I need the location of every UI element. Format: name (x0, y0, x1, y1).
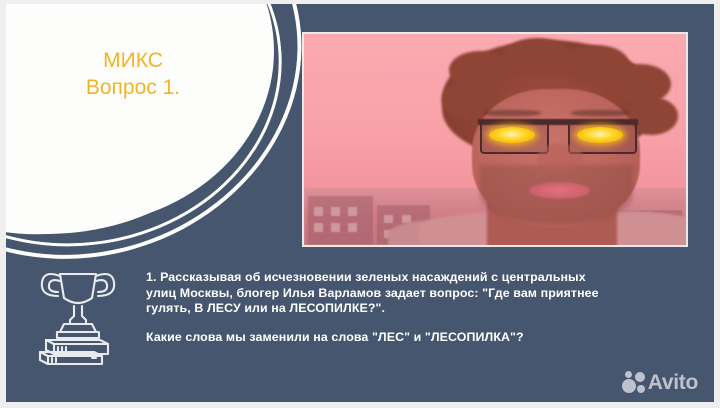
avito-dot-small-bottom (637, 385, 645, 393)
slide-frame: МИКС Вопрос 1. (0, 0, 720, 408)
photo-window (314, 223, 323, 232)
avito-dot-large (622, 379, 636, 393)
photo-glowing-eye-right (577, 127, 623, 143)
photo-window (314, 207, 323, 216)
title-line-category: МИКС (28, 48, 238, 75)
question-primary-text: 1. Рассказывая об исчезновении зеленых н… (146, 270, 616, 317)
photo-eyebrow-right (571, 110, 628, 116)
slide-title: МИКС Вопрос 1. (28, 48, 238, 102)
photo-nose (537, 144, 583, 174)
avito-dot-small-top (625, 371, 632, 378)
photo-building (308, 195, 373, 245)
trophy-on-books-icon (24, 252, 132, 370)
photo-mouth (529, 182, 590, 199)
title-line-question-number: Вопрос 1. (28, 75, 238, 102)
question-image (302, 32, 688, 247)
photo-hair-curl (503, 38, 572, 76)
avito-wordmark: Avito (648, 372, 698, 393)
photo-eyebrow-left (484, 110, 541, 116)
slide-canvas: МИКС Вопрос 1. (6, 4, 714, 402)
avito-dot-medium (635, 372, 645, 382)
photo-window (348, 207, 357, 216)
photo-window (348, 223, 357, 232)
question-image-content (304, 34, 686, 245)
question-text-block: 1. Рассказывая об исчезновении зеленых н… (146, 270, 616, 346)
photo-glowing-eye-left (489, 127, 535, 143)
photo-window (331, 207, 340, 216)
avito-watermark: Avito (622, 371, 698, 394)
avito-logo-icon (622, 371, 645, 394)
question-secondary-text: Какие слова мы заменили на слова "ЛЕС" и… (146, 330, 616, 346)
photo-window (384, 215, 393, 223)
photo-window (331, 223, 340, 232)
